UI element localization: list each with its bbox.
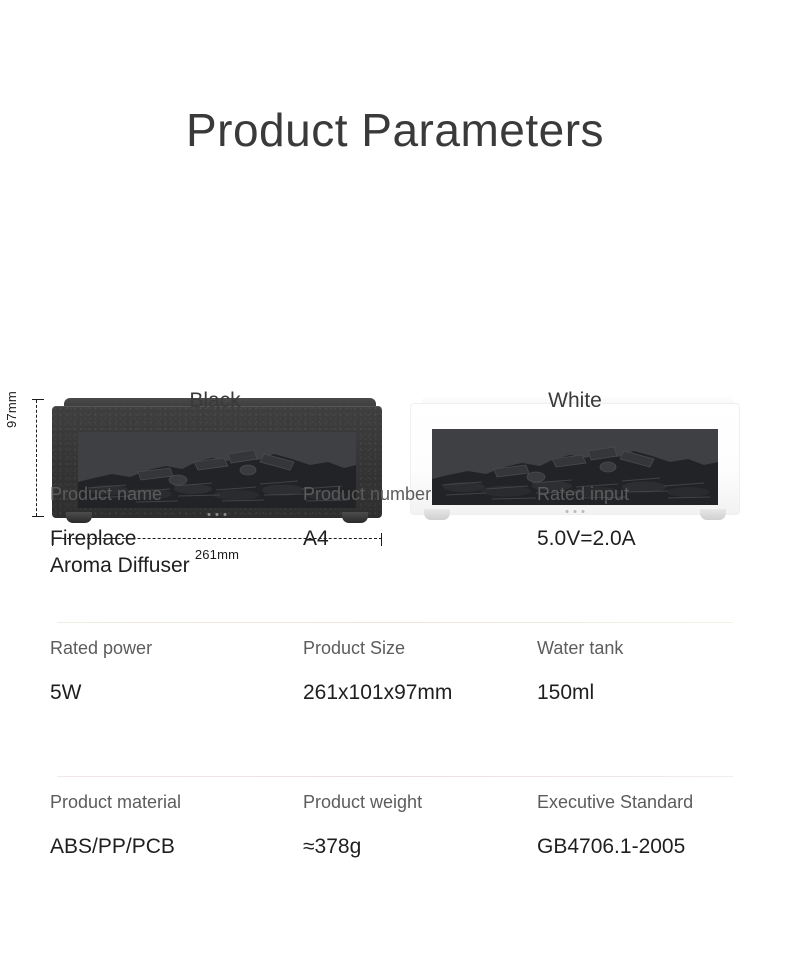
- spec-value: ABS/PP/PCB: [50, 833, 295, 861]
- spec-value: GB4706.1-2005: [537, 833, 767, 861]
- spec-value: A4: [303, 525, 528, 553]
- spec-cell-product-size: Product Size 261x101x97mm: [303, 638, 528, 706]
- table-row: Product material ABS/PP/PCB Product weig…: [0, 792, 790, 912]
- spec-cell-product-material: Product material ABS/PP/PCB: [50, 792, 295, 860]
- spec-cell-product-weight: Product weight ≈378g: [303, 792, 528, 860]
- spec-label: Product name: [50, 484, 295, 506]
- spec-label: Water tank: [537, 638, 767, 660]
- spec-label: Executive Standard: [537, 792, 767, 814]
- spec-label: Product material: [50, 792, 295, 814]
- specifications-table: Product name Fireplace Aroma Diffuser Pr…: [0, 484, 790, 622]
- spec-label: Rated input: [537, 484, 767, 506]
- spec-cell-product-name: Product name Fireplace Aroma Diffuser: [50, 484, 295, 580]
- variant-caption-black: Black: [0, 389, 430, 413]
- variant-caption-white: White: [400, 389, 750, 413]
- spec-label: Rated power: [50, 638, 295, 660]
- spec-value: 150ml: [537, 679, 767, 707]
- spec-cell-water-tank: Water tank 150ml: [537, 638, 767, 706]
- spec-value: 5.0V=2.0A: [537, 525, 767, 553]
- spec-label: Product weight: [303, 792, 528, 814]
- row-divider: [57, 776, 733, 777]
- spec-label: Product number: [303, 484, 528, 506]
- spec-cell-executive-standard: Executive Standard GB4706.1-2005: [537, 792, 767, 860]
- row-divider: [57, 622, 733, 623]
- spec-cell-rated-power: Rated power 5W: [50, 638, 295, 706]
- spec-value: 261x101x97mm: [303, 679, 528, 707]
- table-row: Product name Fireplace Aroma Diffuser Pr…: [0, 484, 790, 622]
- page-title: Product Parameters: [0, 105, 790, 156]
- spec-label: Product Size: [303, 638, 528, 660]
- spec-value: 5W: [50, 679, 295, 707]
- spec-value: Fireplace Aroma Diffuser: [50, 525, 295, 580]
- table-row: Rated power 5W Product Size 261x101x97mm…: [0, 638, 790, 776]
- spec-cell-product-number: Product number A4: [303, 484, 528, 552]
- spec-cell-rated-input: Rated input 5.0V=2.0A: [537, 484, 767, 552]
- spec-value: ≈378g: [303, 833, 528, 861]
